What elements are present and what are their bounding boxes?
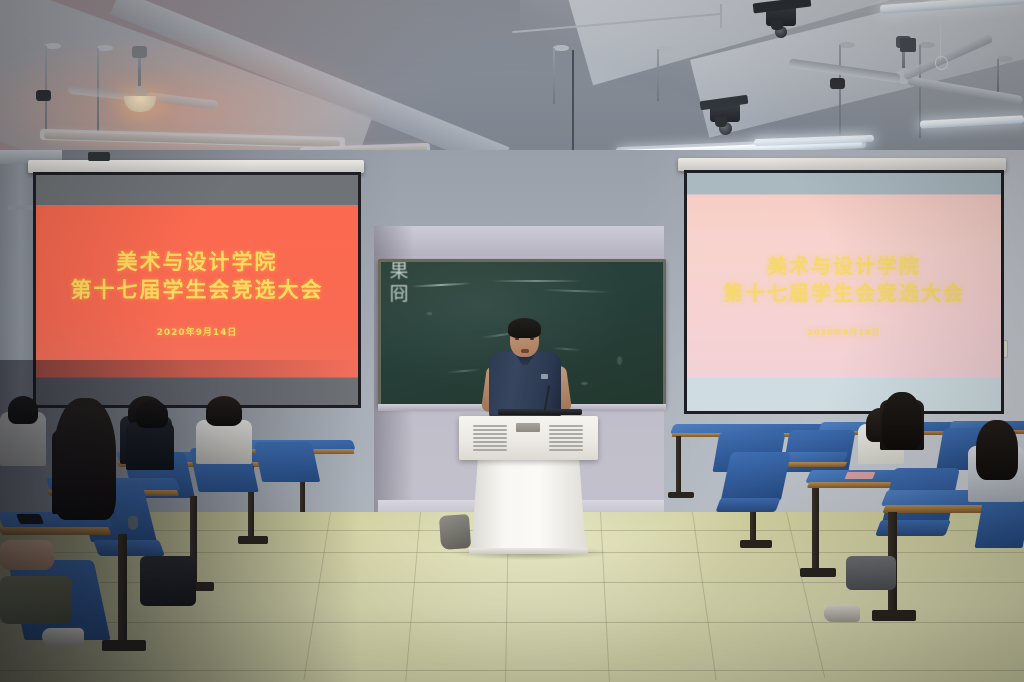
lecture-hall-photo: 果 冏 美术与设计学院 第十七届学生会竞选大会 2020年9月14日 美术与设计… [0, 0, 1024, 682]
person-shoe [42, 628, 84, 646]
seat-pan[interactable] [93, 540, 165, 556]
desk-foot [740, 540, 772, 548]
person-shoe [824, 606, 860, 622]
person-hair [136, 400, 168, 428]
podium-body [471, 458, 586, 554]
right-screen-slide: 美术与设计学院 第十七届学生会竞选大会 2020年9月14日 [687, 218, 1001, 373]
bag-on-floor [439, 514, 471, 550]
desk-leg [676, 436, 681, 494]
slide-title-line2: 第十七届学生会竞选大会 [723, 280, 965, 307]
desk-foot [102, 640, 146, 651]
pendant-rod [839, 45, 841, 135]
person-body [196, 420, 252, 464]
phone-on-desk [16, 514, 44, 524]
person-hair [882, 392, 922, 450]
speaker-hair [508, 318, 541, 338]
seat-back[interactable] [721, 452, 791, 500]
chalk-character-2: 冏 [389, 285, 408, 304]
person-hair [206, 396, 242, 426]
seat-pan[interactable] [875, 520, 951, 536]
speaker-eye-left [515, 338, 519, 340]
slide-date: 2020年9月14日 [157, 325, 238, 338]
ceiling-mount [900, 38, 916, 52]
podium-speaker-grille-right [549, 425, 583, 451]
person-hair-long [54, 398, 116, 520]
desk-foot [668, 492, 694, 498]
desk-foot [800, 568, 836, 577]
desk-foot [872, 610, 916, 621]
desk-leg [812, 488, 819, 570]
podium-base [469, 548, 588, 554]
shirt-logo-icon [541, 374, 548, 379]
microphone-bar [498, 409, 582, 415]
left-screen-slide: 美术与设计学院 第十七届学生会竞选大会 2020年9月14日 [36, 214, 358, 373]
rod-cap [997, 56, 1013, 62]
person-hair [976, 420, 1018, 480]
ceiling-conduit-drop [720, 4, 722, 28]
pendant-rod [657, 49, 659, 101]
person-arm [0, 540, 54, 570]
speaker-mouth [521, 349, 529, 353]
ceiling-speaker-icon [36, 90, 51, 101]
pull-chain-ring [935, 56, 948, 70]
rod-cap [45, 43, 61, 49]
person-legs [846, 556, 896, 590]
podium-control-panel[interactable] [516, 423, 540, 432]
pendant-rod [553, 48, 555, 104]
rod-cap [97, 45, 113, 51]
chalk-character-1: 果 [389, 262, 408, 281]
speaker-eye-right [530, 338, 534, 340]
front-wall-lip [374, 226, 664, 256]
rod-cap [553, 45, 569, 51]
desk-leg [118, 534, 127, 644]
water-bottle [128, 516, 138, 530]
rod-cap [919, 42, 935, 48]
screen-roller-motor [88, 152, 110, 161]
ceiling-speaker-icon [830, 78, 845, 89]
fan-mount [132, 46, 147, 58]
person-legs [0, 576, 72, 624]
left-projection-screen[interactable]: 美术与设计学院 第十七届学生会竞选大会 2020年9月14日 [33, 172, 361, 408]
item-on-desk [845, 472, 876, 479]
slide-date: 2020年9月14日 [808, 327, 881, 338]
slide-title-line1: 美术与设计学院 [117, 249, 278, 277]
person-legs [140, 556, 196, 606]
right-projection-screen[interactable]: 美术与设计学院 第十七届学生会竞选大会 2020年9月14日 [684, 170, 1004, 414]
pendant-rod [45, 46, 47, 132]
desk-edge [0, 527, 112, 535]
desk-foot [238, 536, 268, 544]
slide-title-line2: 第十七届学生会竞选大会 [71, 277, 324, 305]
person-body [126, 422, 174, 470]
rod-cap [657, 46, 673, 52]
slide-title-line1: 美术与设计学院 [767, 253, 921, 280]
seat-pan[interactable] [715, 498, 780, 512]
pendant-rod [997, 59, 999, 94]
blackboard-chalk-writing: 果 冏 [381, 262, 417, 338]
person-hair [8, 396, 38, 424]
rod-cap [839, 42, 855, 48]
podium-speaker-grille-left [473, 425, 507, 451]
seat-back[interactable] [254, 442, 321, 482]
